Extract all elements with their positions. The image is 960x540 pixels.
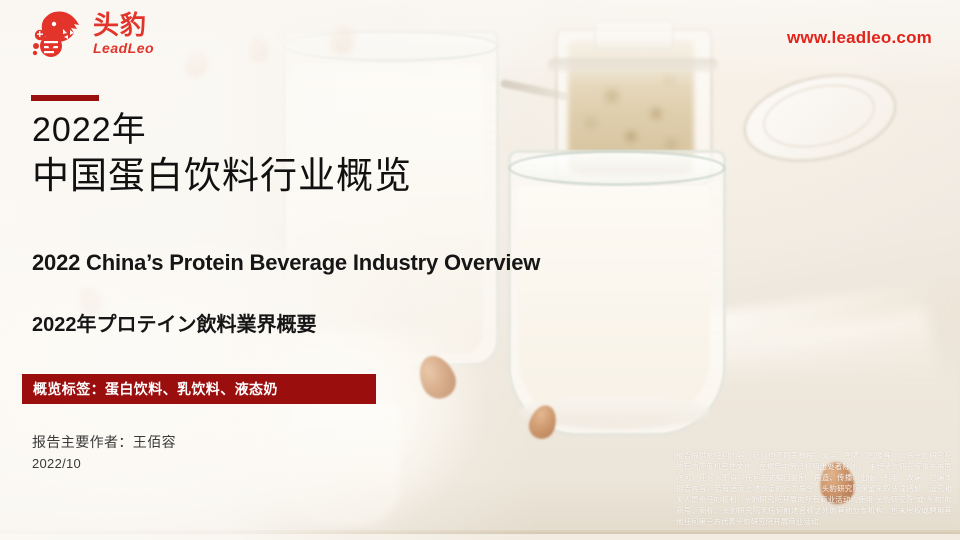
report-cover-slide: 头豹 LeadLeo www.leadleo.com 2022年 中国蛋白饮料行… bbox=[0, 0, 960, 540]
title-accent-bar bbox=[31, 95, 99, 101]
brand-name-en: LeadLeo bbox=[93, 41, 154, 55]
brand-name-cn: 头豹 bbox=[93, 12, 154, 38]
leopard-head-icon bbox=[30, 8, 86, 58]
legal-disclaimer: 报告提供的任何内容（包括但不限于数据、文字、图表、图像等）均系头豹研究院独有的高… bbox=[676, 450, 952, 527]
title-year: 2022年 bbox=[32, 108, 412, 152]
website-url[interactable]: www.leadleo.com bbox=[787, 28, 932, 48]
overview-tag-text: 概览标签：蛋白饮料、乳饮料、液态奶 bbox=[33, 379, 278, 399]
cover-content: 头豹 LeadLeo www.leadleo.com 2022年 中国蛋白饮料行… bbox=[0, 0, 960, 540]
title-main: 中国蛋白饮料行业概览 bbox=[32, 152, 412, 200]
brand-logo-wordmark: 头豹 LeadLeo bbox=[93, 12, 154, 55]
subtitle-japanese: 2022年プロテイン飲料業界概要 bbox=[32, 308, 317, 337]
page-title: 2022年 中国蛋白饮料行业概览 bbox=[32, 108, 412, 200]
subtitle-english: 2022 China’s Protein Beverage Industry O… bbox=[32, 250, 540, 276]
brand-logo[interactable]: 头豹 LeadLeo bbox=[30, 8, 154, 58]
report-date: 2022/10 bbox=[32, 456, 81, 471]
overview-tag-banner: 概览标签：蛋白饮料、乳饮料、液态奶 bbox=[22, 374, 376, 404]
report-author: 报告主要作者：王佰容 bbox=[32, 432, 176, 452]
